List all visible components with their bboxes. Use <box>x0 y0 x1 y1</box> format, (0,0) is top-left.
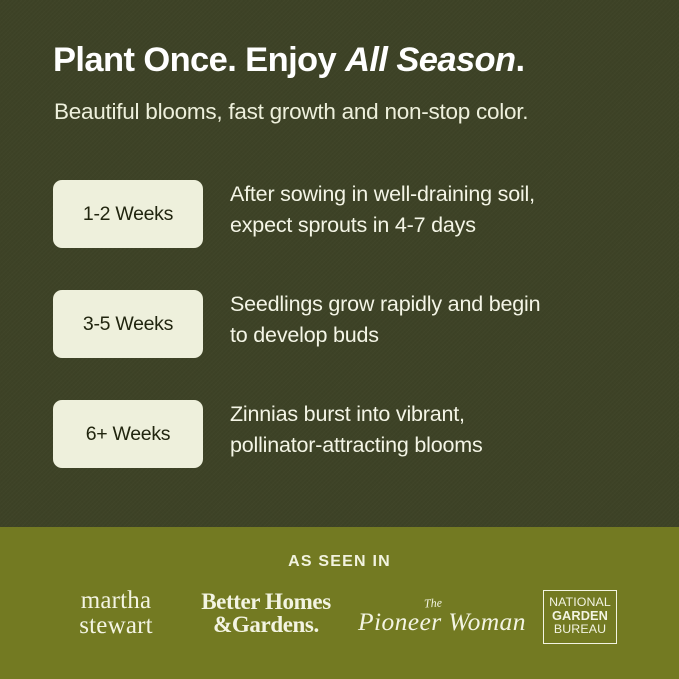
timeline-badge-label: 1-2 Weeks <box>83 203 173 226</box>
timeline-badge-2: 3-5 Weeks <box>53 290 203 358</box>
timeline-badge-label: 3-5 Weeks <box>83 313 173 336</box>
logo-martha-stewart-line1: martha <box>81 587 152 614</box>
promo-infographic: Plant Once. Enjoy All Season. Beautiful … <box>0 0 679 679</box>
headline-text-italic: All Season <box>345 41 515 79</box>
timeline-badge-label: 6+ Weeks <box>86 423 171 446</box>
logo-bhg-line2: &Gardens. <box>180 613 352 636</box>
press-logo-row: martha stewart Better Homes &Gardens. Th… <box>0 589 679 647</box>
logo-tpw-main: Pioneer Woman <box>358 607 526 637</box>
page-title: Plant Once. Enjoy All Season. <box>53 41 653 80</box>
logo-ngb-line1: NATIONAL <box>548 596 612 609</box>
timeline-description-line2: pollinator-attracting blooms <box>230 430 650 461</box>
logo-martha-stewart: martha stewart <box>33 589 199 638</box>
timeline-description-1: After sowing in well-draining soil, expe… <box>230 179 650 240</box>
as-seen-in-label: AS SEEN IN <box>0 553 679 571</box>
headline-text-part1: Plant Once. Enjoy <box>53 41 345 79</box>
timeline-badge-1: 1-2 Weeks <box>53 180 203 248</box>
logo-national-garden-bureau: NATIONAL GARDEN BUREAU <box>543 590 617 644</box>
timeline-description-line2: to develop buds <box>230 320 650 351</box>
timeline-description-line1: Zinnias burst into vibrant, <box>230 399 650 430</box>
page-subtitle: Beautiful blooms, fast growth and non-st… <box>54 98 664 125</box>
logo-better-homes-and-gardens: Better Homes &Gardens. <box>180 590 352 636</box>
list-item: 3-5 Weeks Seedlings grow rapidly and beg… <box>0 290 679 400</box>
list-item: 6+ Weeks Zinnias burst into vibrant, pol… <box>0 400 679 510</box>
logo-ngb-line2: GARDEN <box>548 609 612 623</box>
top-section: Plant Once. Enjoy All Season. Beautiful … <box>0 0 679 527</box>
growth-timeline-list: 1-2 Weeks After sowing in well-draining … <box>0 180 679 510</box>
list-item: 1-2 Weeks After sowing in well-draining … <box>0 180 679 290</box>
logo-martha-stewart-line2: stewart <box>33 614 199 639</box>
logo-the-pioneer-woman: The Pioneer Woman <box>352 595 526 639</box>
headline-text-period: . <box>516 41 525 79</box>
timeline-description-2: Seedlings grow rapidly and begin to deve… <box>230 289 650 350</box>
timeline-description-line1: After sowing in well-draining soil, <box>230 179 650 210</box>
timeline-badge-3: 6+ Weeks <box>53 400 203 468</box>
logo-bhg-line1: Better Homes <box>201 589 331 614</box>
timeline-description-3: Zinnias burst into vibrant, pollinator-a… <box>230 399 650 460</box>
timeline-description-line2: expect sprouts in 4-7 days <box>230 210 650 241</box>
timeline-description-line1: Seedlings grow rapidly and begin <box>230 289 650 320</box>
logo-ngb-line3: BUREAU <box>548 623 612 636</box>
